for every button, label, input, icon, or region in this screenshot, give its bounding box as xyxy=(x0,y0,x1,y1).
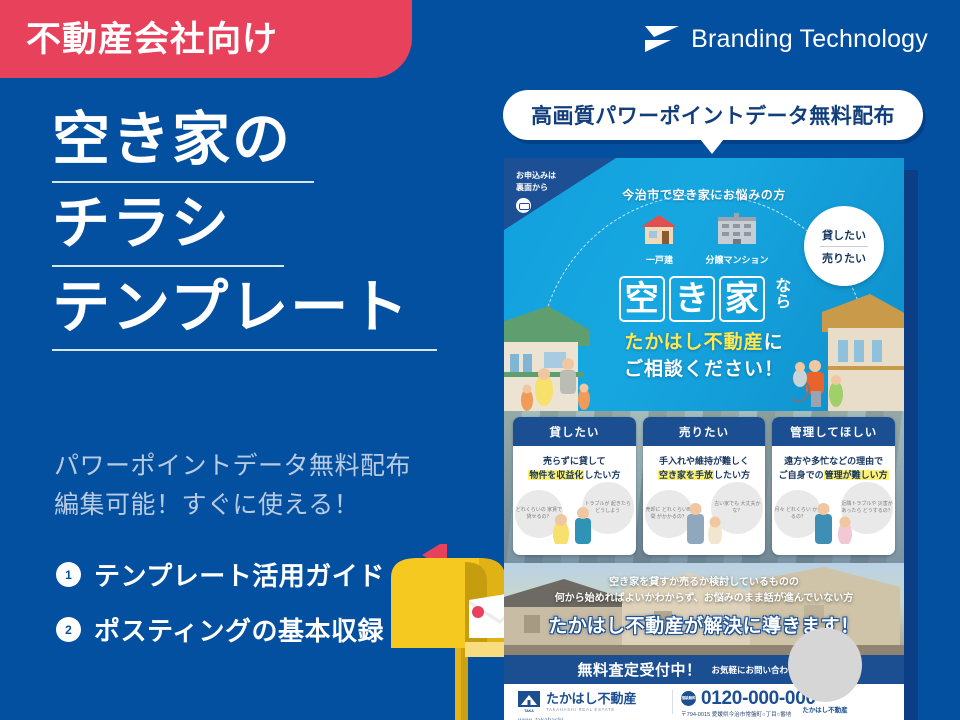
flyer-keyword-suffix: なら xyxy=(772,277,790,321)
flyer-property-type-label: 分譲マンション xyxy=(705,253,768,266)
page-title: 空き家の チラシ テンプレート xyxy=(52,108,472,360)
flyer-cta-strip-main: 無料査定受付中！ xyxy=(577,659,701,680)
subtitle: パワーポイントデータ無料配布 編集可能！すぐに使える！ xyxy=(54,447,474,525)
people-illustration xyxy=(673,500,735,544)
list-item-label: テンプレート活用ガイド xyxy=(94,556,385,593)
people-illustration xyxy=(543,500,605,544)
flyer-card-title: 売りたい xyxy=(643,417,766,446)
brand-logo: Branding Technology xyxy=(645,24,928,54)
free-consultation-icon: 相談無料 xyxy=(681,691,696,706)
flyer-cards-section: 貸したい 売らずに貸して 物件を収益化したい方 どれくらいの 家賃で 貸せるの？… xyxy=(504,411,904,563)
flyer-hero-cta-line-1: たかはし不動産に xyxy=(504,330,904,357)
takahashi-logo-icon: TAKA xyxy=(518,691,540,713)
audience-badge: 不動産会社向け xyxy=(0,0,412,78)
flyer-hero-cta-plain: に xyxy=(764,332,784,353)
flyer-qr-label: たかはし不動産 xyxy=(788,704,862,714)
flyer-card-bubbles: 売却に どれくらい時間 がかかるの？ 古い家でも 大丈夫かな？ xyxy=(643,482,766,544)
svg-text:TAKA: TAKA xyxy=(524,709,534,713)
people-illustration xyxy=(803,500,865,544)
flyer-intent-badge: 貸したい 売りたい xyxy=(804,206,884,286)
flyer-card-line-1: 売らずに貸して xyxy=(519,455,630,469)
flyer-hero-cta-line-2: ご相談ください！ xyxy=(504,357,904,384)
flyer-intent-badge-line-2: 売りたい xyxy=(822,247,866,269)
slide-canvas: 不動産会社向け Branding Technology 空き家の チラシ テンプ… xyxy=(0,0,960,720)
flyer-keyword-char: き xyxy=(669,276,715,322)
list-item: 2 ポスティングの基本収録 xyxy=(56,611,385,648)
flyer-footer-company-name: たかはし不動産 xyxy=(546,692,636,705)
hero-divider-3 xyxy=(52,349,437,351)
flyer-hero: お申込みは 裏面から 今治市で空き家にお悩みの方 一戸建 xyxy=(504,158,904,411)
flyer-footer-company-en: TAKAHASHI REAL ESTATE xyxy=(546,707,636,712)
flyer-card-line-2-tail: したい方 xyxy=(714,470,750,480)
flyer-card-line-1: 手入れや維持が難しく xyxy=(649,455,760,469)
flyer-footer-divider xyxy=(672,690,673,714)
apartment-building-icon xyxy=(715,213,759,245)
flyer-card-highlight: 空き家を手放 xyxy=(658,470,714,480)
brand-name: Branding Technology xyxy=(691,25,928,54)
list-item-number: 2 xyxy=(56,617,81,642)
flyer-card-body: 売らずに貸して 物件を収益化したい方 どれくらいの 家賃で 貸せるの？ トラブル… xyxy=(513,446,636,546)
flyer-keyword-char: 家 xyxy=(719,276,765,322)
flyer-hero-cta-accent: たかはし不動産 xyxy=(624,332,763,353)
paper-plane-logo-icon xyxy=(645,24,679,54)
hero-line-1: 空き家の xyxy=(52,108,472,173)
hero-line-2: チラシ xyxy=(52,192,472,257)
list-item-number: 1 xyxy=(56,562,81,587)
flyer-card-line-2-tail: したい方 xyxy=(584,470,620,480)
callout-label: 高画質パワーポイントデータ無料配布 xyxy=(531,100,895,130)
audience-badge-label: 不動産会社向け xyxy=(0,22,278,57)
house-icon xyxy=(639,213,679,245)
flyer-card-line-2-head: ご自身での xyxy=(779,470,824,480)
hero-line-3: テンプレート xyxy=(52,276,472,341)
flyer-card-body: 遠方や多忙などの理由で ご自身での管理が難しい方 月々 どれくらい かかるの？ … xyxy=(772,446,895,546)
flyer-card: 管理してほしい 遠方や多忙などの理由で ご自身での管理が難しい方 月々 どれくら… xyxy=(772,417,895,555)
flyer-keyword-char: 空 xyxy=(619,276,665,322)
flyer-property-type: 一戸建 xyxy=(639,213,679,266)
feature-list: 1 テンプレート活用ガイド 2 ポスティングの基本収録 xyxy=(56,556,385,666)
flyer-card: 貸したい 売らずに貸して 物件を収益化したい方 どれくらいの 家賃で 貸せるの？… xyxy=(513,417,636,555)
callout-pill: 高画質パワーポイントデータ無料配布 xyxy=(503,90,923,140)
flyer-band-line-2: 何から始めればよいかわからず、お悩みのまま話が進んでいない方 xyxy=(504,591,904,607)
flyer-property-type: 分譲マンション xyxy=(705,213,768,266)
subtitle-line-2: 編集可能！すぐに使える！ xyxy=(54,486,474,525)
flyer-intent-badge-line-1: 貸したい xyxy=(822,224,866,246)
flyer-card-title: 管理してほしい xyxy=(772,417,895,446)
hero-divider-1 xyxy=(52,181,314,183)
flyer-hero-cta: たかはし不動産に ご相談ください！ xyxy=(504,330,904,384)
hero-divider-2 xyxy=(52,265,284,267)
flyer-card: 売りたい 手入れや維持が難しく 空き家を手放したい方 売却に どれくらい時間 が… xyxy=(643,417,766,555)
flyer-card-line-2: 物件を収益化したい方 xyxy=(519,469,630,483)
flyer-hero-topline: 今治市で空き家にお悩みの方 xyxy=(504,186,904,203)
flyer-card-title: 貸したい xyxy=(513,417,636,446)
flyer-footer-company: TAKA たかはし不動産 TAKAHASHI REAL ESTATE www. … xyxy=(504,684,672,720)
flyer-card-line-2: 空き家を手放したい方 xyxy=(649,469,760,483)
flyer-qr-block: たかはし不動産 xyxy=(788,628,862,714)
flyer-card-line-2: ご自身での管理が難しい方 xyxy=(778,469,889,483)
flyer-footer-logo: TAKA たかはし不動産 TAKAHASHI REAL ESTATE xyxy=(518,691,672,713)
flyer-card-bubbles: 月々 どれくらい かかるの？ 近隣トラブルや 災害があったら どうするの？ xyxy=(772,482,895,544)
flyer-apply-line-1: お申込みは xyxy=(516,170,556,182)
flyer-property-type-label: 一戸建 xyxy=(639,253,679,266)
list-item: 1 テンプレート活用ガイド xyxy=(56,556,385,593)
flyer-card-line-1: 遠方や多忙などの理由で xyxy=(778,455,889,469)
flyer-band-line-1: 空き家を貸すか売るか検討しているものの xyxy=(504,575,904,591)
subtitle-line-1: パワーポイントデータ無料配布 xyxy=(54,447,474,486)
flyer-preview[interactable]: お申込みは 裏面から 今治市で空き家にお悩みの方 一戸建 xyxy=(504,158,904,720)
flyer-card-highlight: 管理が難しい方 xyxy=(824,470,889,480)
flyer-card-body: 手入れや維持が難しく 空き家を手放したい方 売却に どれくらい時間 がかかるの？… xyxy=(643,446,766,546)
callout-arrow-icon xyxy=(700,139,724,154)
flyer-card-bubbles: どれくらいの 家賃で 貸せるの？ トラブルが 起きたら どうしよう xyxy=(513,482,636,544)
list-item-label: ポスティングの基本収録 xyxy=(94,611,384,648)
qr-code-icon xyxy=(788,628,862,702)
flyer-card-highlight: 物件を収益化 xyxy=(528,470,584,480)
